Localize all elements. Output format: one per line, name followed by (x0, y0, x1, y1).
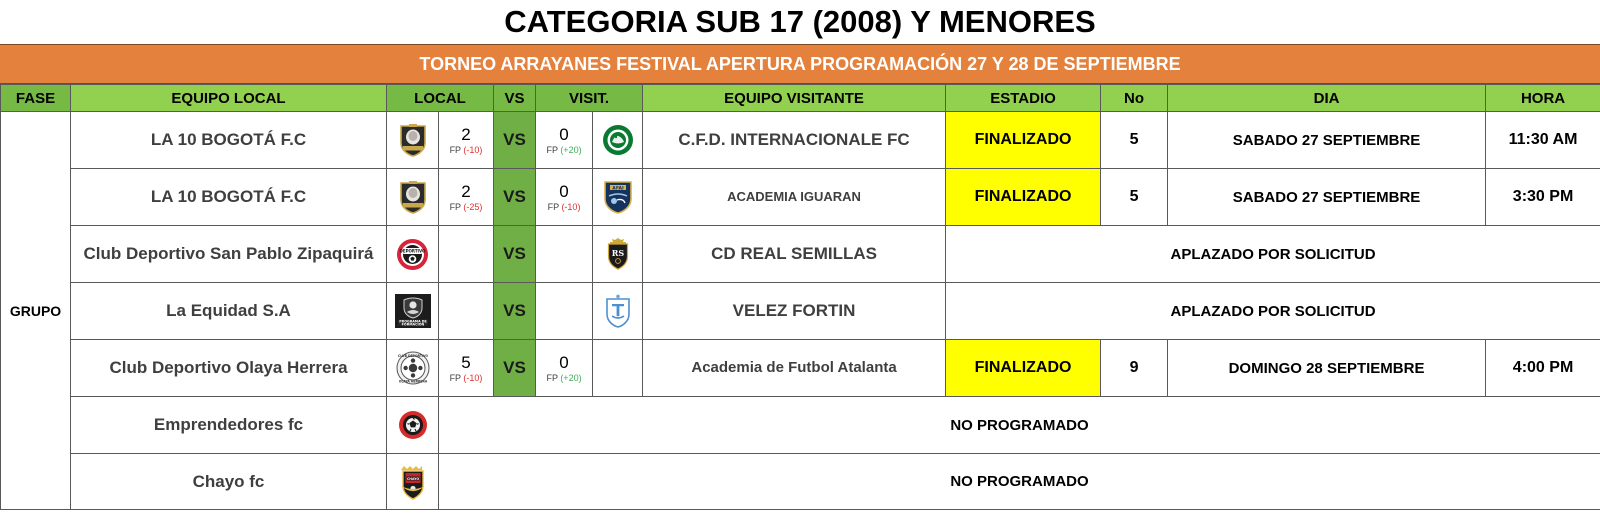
row-status-note: NO PROGRAMADO (439, 397, 1600, 454)
table-body: GRUPOLA 10 BOGOTÁ F.C 2FP (-10)VS0FP (+2… (1, 112, 1600, 510)
table-row[interactable]: GRUPOLA 10 BOGOTÁ F.C 2FP (-10)VS0FP (+2… (1, 112, 1600, 169)
local-team-logo (387, 397, 439, 454)
local-team-logo: CLUB DEPORTIVO OLAYA HERRERA (387, 340, 439, 397)
local-team-logo (387, 112, 439, 169)
local-score (439, 226, 494, 283)
local-team-logo: DEPORTIVO (387, 226, 439, 283)
visitor-team-name: C.F.D. INTERNACIONALE FC (643, 112, 946, 169)
visitor-team-logo (593, 340, 643, 397)
visitor-score: 0FP (+20) (536, 340, 593, 397)
match-time: 4:00 PM (1486, 340, 1600, 397)
tournament-banner: TORNEO ARRAYANES FESTIVAL APERTURA PROGR… (0, 44, 1600, 84)
title-bar: CATEGORIA SUB 17 (2008) Y MENORES (0, 0, 1600, 44)
field-number: 5 (1101, 169, 1168, 226)
match-day: DOMINGO 28 SEPTIEMBRE (1168, 340, 1486, 397)
visitor-team-name: VELEZ FORTIN (643, 283, 946, 340)
local-team-name: Club Deportivo Olaya Herrera (71, 340, 387, 397)
vs-separator: VS (494, 340, 536, 397)
local-team-name: Emprendedores fc (71, 397, 387, 454)
svg-text:DEPORTIVO: DEPORTIVO (400, 248, 427, 253)
tournament-banner-text: TORNEO ARRAYANES FESTIVAL APERTURA PROGR… (419, 54, 1180, 75)
svg-text:RS: RS (611, 248, 624, 258)
match-day: SABADO 27 SEPTIEMBRE (1168, 112, 1486, 169)
visitor-team-logo: RS (593, 226, 643, 283)
table-row[interactable]: Club Deportivo Olaya Herrera CLUB DEPORT… (1, 340, 1600, 397)
svg-text:CHAYO: CHAYO (406, 476, 418, 480)
visitor-team-logo (593, 112, 643, 169)
local-team-logo (387, 169, 439, 226)
col-header-equipo-visitante: EQUIPO VISITANTE (643, 85, 946, 112)
col-header-no: No (1101, 85, 1168, 112)
table-row[interactable]: Club Deportivo San Pablo Zipaquirá DEPOR… (1, 226, 1600, 283)
local-team-logo: PROGRAMA DE FORMACIÓN (387, 283, 439, 340)
table-row[interactable]: Emprendedores fc NO PROGRAMADO (1, 397, 1600, 454)
local-score: 2FP (-25) (439, 169, 494, 226)
col-header-vs: VS (494, 85, 536, 112)
match-time: 3:30 PM (1486, 169, 1600, 226)
visitor-team-logo: AFAI (593, 169, 643, 226)
row-status-note: APLAZADO POR SOLICITUD (946, 226, 1600, 283)
table-header: FASE EQUIPO LOCAL LOCAL VS VISIT. EQUIPO… (1, 85, 1600, 112)
vs-separator: VS (494, 226, 536, 283)
visitor-team-name: Academia de Futbol Atalanta (643, 340, 946, 397)
svg-text:FORMACIÓN: FORMACIÓN (401, 322, 424, 327)
local-team-name: LA 10 BOGOTÁ F.C (71, 169, 387, 226)
header-row: FASE EQUIPO LOCAL LOCAL VS VISIT. EQUIPO… (1, 85, 1600, 112)
visitor-score (536, 226, 593, 283)
col-header-dia: DIA (1168, 85, 1486, 112)
schedule-sheet: CATEGORIA SUB 17 (2008) Y MENORES TORNEO… (0, 0, 1600, 521)
row-status-note: NO PROGRAMADO (439, 454, 1600, 510)
col-header-estadio: ESTADIO (946, 85, 1101, 112)
local-score: 5FP (-10) (439, 340, 494, 397)
visitor-team-name: ACADEMIA IGUARAN (643, 169, 946, 226)
local-score (439, 283, 494, 340)
row-status-note: APLAZADO POR SOLICITUD (946, 283, 1600, 340)
local-team-name: LA 10 BOGOTÁ F.C (71, 112, 387, 169)
local-score: 2FP (-10) (439, 112, 494, 169)
status-badge: FINALIZADO (946, 112, 1101, 169)
visitor-score: 0FP (+20) (536, 112, 593, 169)
table-row[interactable]: Chayo fc CHAYO NO PROGRAMADO (1, 454, 1600, 510)
col-header-hora: HORA (1486, 85, 1600, 112)
svg-text:OLAYA HERRERA: OLAYA HERRERA (398, 380, 427, 384)
local-team-logo: CHAYO (387, 454, 439, 510)
status-badge: FINALIZADO (946, 169, 1101, 226)
vs-separator: VS (494, 283, 536, 340)
col-header-visit: VISIT. (536, 85, 643, 112)
col-header-fase: FASE (1, 85, 71, 112)
schedule-table: FASE EQUIPO LOCAL LOCAL VS VISIT. EQUIPO… (0, 84, 1600, 510)
vs-separator: VS (494, 169, 536, 226)
table-row[interactable]: La Equidad S.A PROGRAMA DE FORMACIÓN VS … (1, 283, 1600, 340)
field-number: 5 (1101, 112, 1168, 169)
vs-separator: VS (494, 112, 536, 169)
table-row[interactable]: LA 10 BOGOTÁ F.C 2FP (-25)VS0FP (-10) AF… (1, 169, 1600, 226)
status-badge: FINALIZADO (946, 340, 1101, 397)
visitor-team-name: CD REAL SEMILLAS (643, 226, 946, 283)
match-day: SABADO 27 SEPTIEMBRE (1168, 169, 1486, 226)
svg-text:CLUB DEPORTIVO: CLUB DEPORTIVO (397, 354, 428, 358)
col-header-local: LOCAL (387, 85, 494, 112)
field-number: 9 (1101, 340, 1168, 397)
svg-text:AFAI: AFAI (612, 185, 624, 191)
page-title: CATEGORIA SUB 17 (2008) Y MENORES (504, 4, 1095, 40)
col-header-equipo-local: EQUIPO LOCAL (71, 85, 387, 112)
visitor-score: 0FP (-10) (536, 169, 593, 226)
match-time: 11:30 AM (1486, 112, 1600, 169)
local-team-name: La Equidad S.A (71, 283, 387, 340)
visitor-score (536, 283, 593, 340)
fase-cell: GRUPO (1, 112, 71, 510)
local-team-name: Chayo fc (71, 454, 387, 510)
visitor-team-logo (593, 283, 643, 340)
local-team-name: Club Deportivo San Pablo Zipaquirá (71, 226, 387, 283)
